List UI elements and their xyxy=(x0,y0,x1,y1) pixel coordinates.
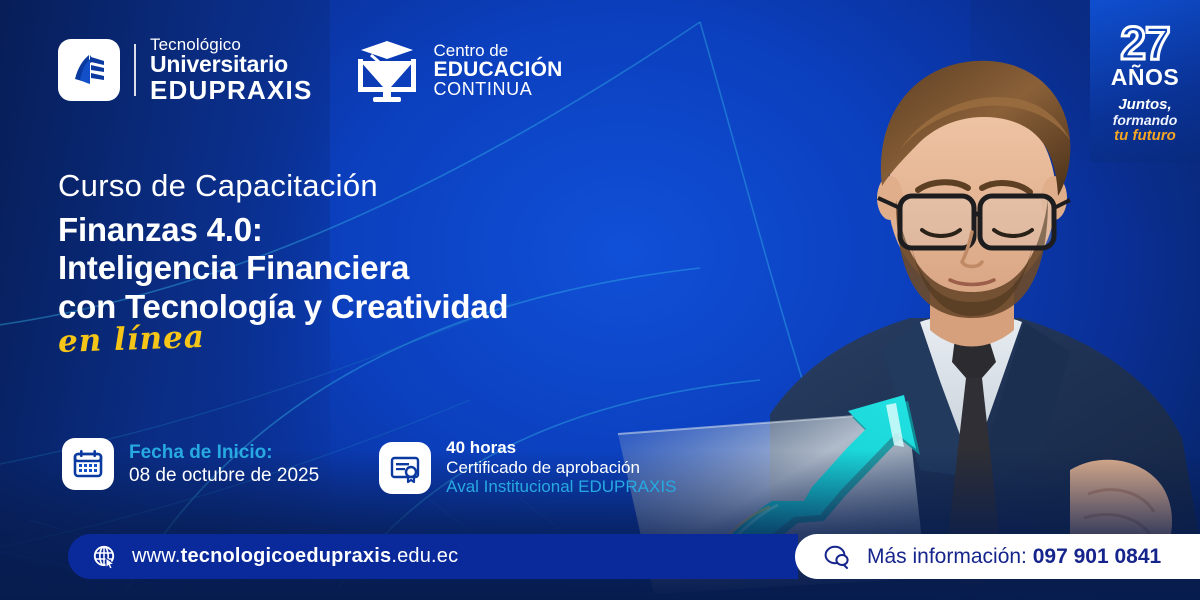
university-logo[interactable]: Tecnológico Universitario EDUPRAXIS xyxy=(58,36,313,103)
start-date-label: Fecha de Inicio: xyxy=(129,441,319,464)
anniversary-badge: 27 AÑOS Juntos, formando tu futuro xyxy=(1090,0,1200,162)
start-date-block: Fecha de Inicio: 08 de octubre de 2025 xyxy=(62,438,319,490)
course-title: Finanzas 4.0: Inteligencia Financiera co… xyxy=(58,211,678,327)
course-title-line1: Finanzas 4.0: xyxy=(58,211,678,250)
logo-divider xyxy=(134,44,136,96)
course-title-line2: Inteligencia Financiera xyxy=(58,249,678,288)
cec-logo-line1: Centro de xyxy=(434,42,563,59)
website-prefix: www. xyxy=(132,545,181,567)
anniversary-slogan-line3: tu futuro xyxy=(1114,128,1176,144)
start-date-value: 08 de octubre de 2025 xyxy=(129,464,319,487)
certificate-block: 40 horas Certificado de aprobación Aval … xyxy=(379,438,676,497)
anniversary-number: 27 xyxy=(1120,22,1169,65)
website-domain: tecnologicoedupraxis xyxy=(181,545,392,567)
contact-label: Más información: xyxy=(867,545,1027,568)
certificate-line3: Aval Institucional EDUPRAXIS xyxy=(446,477,676,497)
chat-bubbles-icon xyxy=(823,544,853,570)
contact-text: Más información: 097 901 0841 xyxy=(867,545,1161,569)
contact-pill[interactable]: Más información: 097 901 0841 xyxy=(795,534,1200,579)
certificate-hours: 40 horas xyxy=(446,438,676,458)
website-url: www.tecnologicoedupraxis.edu.ec xyxy=(132,545,458,568)
certificate-icon xyxy=(379,442,431,494)
anniversary-slogan-line2: formando xyxy=(1113,113,1178,128)
website-suffix: .edu.ec xyxy=(391,545,458,567)
website-bar[interactable]: www.tecnologicoedupraxis.edu.ec xyxy=(68,534,798,579)
promotional-banner: Tecnológico Universitario EDUPRAXIS Cent… xyxy=(0,0,1200,600)
course-kicker: Curso de Capacitación xyxy=(58,168,678,204)
anniversary-slogan-line1: Juntos, xyxy=(1118,97,1171,113)
course-modality-script: en línea xyxy=(57,319,205,360)
headline-block: Curso de Capacitación Finanzas 4.0: Inte… xyxy=(58,168,678,360)
info-row: Fecha de Inicio: 08 de octubre de 2025 4… xyxy=(62,438,676,497)
continuing-education-logo[interactable]: Centro de EDUCACIÓN CONTINUA xyxy=(351,37,563,103)
globe-cursor-icon xyxy=(92,544,118,570)
contact-phone: 097 901 0841 xyxy=(1033,545,1161,568)
calendar-icon xyxy=(62,438,114,490)
logo-group: Tecnológico Universitario EDUPRAXIS Cent… xyxy=(58,36,562,103)
certificate-line2: Certificado de aprobación xyxy=(446,458,676,478)
university-logo-line2: Universitario xyxy=(150,53,313,76)
graduation-cap-monitor-icon xyxy=(351,37,423,103)
book-crest-icon xyxy=(58,39,120,101)
cec-logo-line2: EDUCACIÓN xyxy=(434,59,563,80)
anniversary-years-label: AÑOS xyxy=(1111,66,1179,89)
university-logo-line3: EDUPRAXIS xyxy=(150,77,313,104)
cec-logo-line3: CONTINUA xyxy=(434,80,563,98)
